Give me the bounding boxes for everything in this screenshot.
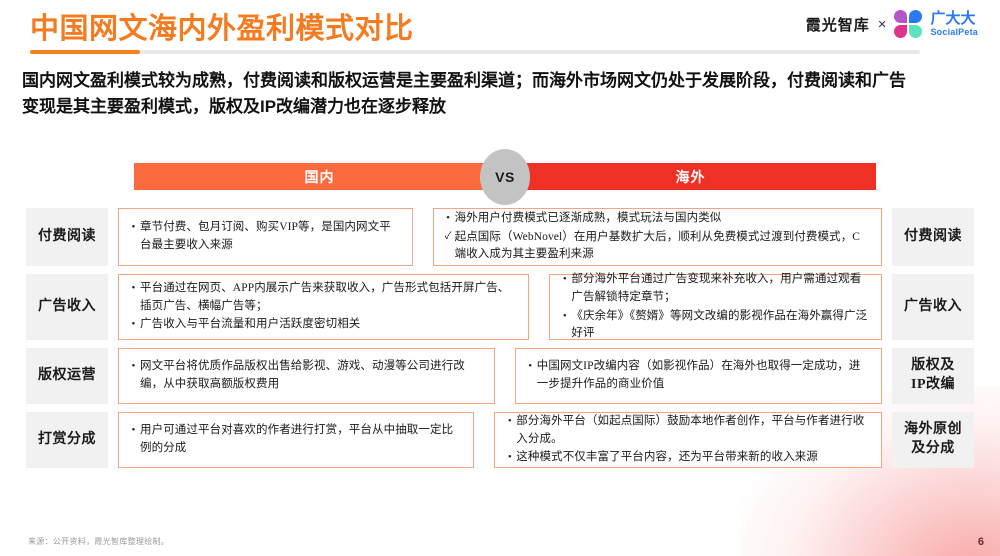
row-label-left: 打赏分成 [26, 412, 108, 468]
logo-quadrant-top-left [894, 10, 907, 23]
vs-badge: VS [480, 149, 530, 205]
title-underline [30, 50, 920, 54]
list-item: • 《庆余年》《赘婿》等网文改编的影视作品在海外赢得广泛好评 [558, 308, 871, 344]
brand-name: 霞光智库 [806, 14, 870, 35]
bullet-dot-icon: • [558, 308, 571, 325]
overseas-content-box: • 部分海外平台通过广告变现来补充收入，用户需通过观看广告解锁特定章节； • 《… [549, 274, 882, 340]
row-label-right: 广告收入 [892, 274, 974, 340]
overseas-header-label: 海外 [676, 167, 706, 187]
slide-root: 中国网文海内外盈利模式对比 霞光智库 × 广大大 SocialPeta 国内网文… [0, 0, 1000, 556]
bullet-dot-icon: • [127, 316, 140, 333]
overseas-content-box: • 海外用户付费模式已逐渐成熟，模式玩法与国内类似 ✓ 起点国际（WebNove… [433, 208, 882, 266]
list-item-text: 部分海外平台通过广告变现来补充收入，用户需通过观看广告解锁特定章节； [571, 271, 871, 307]
comparison-row: 付费阅读 • 章节付费、包月订阅、购买VIP等，是国内网文平台最主要收入来源 •… [0, 208, 1000, 266]
list-item: • 网文平台将优质作品版权出售给影视、游戏、动漫等公司进行改编，从中获取高额版权… [127, 358, 484, 394]
bullet-dot-icon: • [503, 449, 516, 466]
list-item: • 平台通过在网页、APP内展示广告来获取收入，广告形式包括开屏广告、插页广告、… [127, 280, 518, 316]
logo-quadrant-bottom-left [894, 25, 907, 38]
list-item-text: 部分海外平台（如起点国际）鼓励本地作者创作，平台与作者进行收入分成。 [516, 413, 871, 449]
bullet-dot-icon: • [127, 422, 140, 439]
list-item-text: 起点国际（WebNovel）在用户基数扩大后，顺利从免费模式过渡到付费模式，C端… [455, 229, 871, 265]
list-item: • 海外用户付费模式已逐渐成熟，模式玩法与国内类似 [442, 210, 871, 228]
list-item: • 这种模式不仅丰富了平台内容，还为平台带来新的收入来源 [503, 449, 871, 467]
logo-quadrant-bottom-right [909, 25, 922, 38]
row-label-left: 付费阅读 [26, 208, 108, 266]
row-label-right: 版权及 IP改编 [892, 348, 974, 404]
row-label-right: 海外原创 及分成 [892, 412, 974, 468]
logo-quadrant-top-right [909, 10, 922, 23]
bullet-dot-icon: • [558, 271, 571, 288]
page-title: 中国网文海内外盈利模式对比 [30, 14, 414, 46]
list-item-text: 这种模式不仅丰富了平台内容，还为平台带来新的收入来源 [516, 449, 871, 467]
list-item: • 章节付费、包月订阅、购买VIP等，是国内网文平台最主要收入来源 [127, 219, 402, 255]
partner-name-en: SocialPeta [930, 28, 978, 37]
source-note: 来源：公开资料，霞光智库整理绘制。 [28, 536, 169, 547]
list-item-text: 中国网文IP改编内容（如影视作品）在海外也取得一定成功，进一步提升作品的商业价值 [537, 358, 871, 394]
row-label-left: 广告收入 [26, 274, 108, 340]
list-item-text: 章节付费、包月订阅、购买VIP等，是国内网文平台最主要收入来源 [140, 219, 402, 255]
list-item: • 部分海外平台通过广告变现来补充收入，用户需通过观看广告解锁特定章节； [558, 271, 871, 307]
comparison-row: 打赏分成 • 用户可通过平台对喜欢的作者进行打赏，平台从中抽取一定比例的分成 •… [0, 412, 1000, 468]
list-item-text: 《庆余年》《赘婿》等网文改编的影视作品在海外赢得广泛好评 [571, 308, 871, 344]
bullet-dot-icon: • [524, 358, 537, 375]
domestic-header: 国内 [134, 163, 505, 190]
brand-lockup: 霞光智库 × 广大大 SocialPeta [806, 10, 978, 38]
list-item: • 广告收入与平台流量和用户活跃度密切相关 [127, 316, 518, 334]
comparison-header-bar: 国内 海外 VS [134, 163, 876, 190]
domestic-content-box: • 章节付费、包月订阅、购买VIP等，是国内网文平台最主要收入来源 [118, 208, 413, 266]
list-item-text: 广告收入与平台流量和用户活跃度密切相关 [140, 316, 518, 334]
domestic-content-box: • 用户可通过平台对喜欢的作者进行打赏，平台从中抽取一定比例的分成 [118, 412, 474, 468]
title-underline-accent [30, 50, 140, 54]
list-item-text: 网文平台将优质作品版权出售给影视、游戏、动漫等公司进行改编，从中获取高额版权费用 [140, 358, 484, 394]
partner-name-cn: 广大大 [930, 11, 978, 26]
list-item: • 部分海外平台（如起点国际）鼓励本地作者创作，平台与作者进行收入分成。 [503, 413, 871, 449]
check-icon: ✓ [442, 229, 455, 245]
page-number: 6 [978, 536, 984, 548]
list-item: ✓ 起点国际（WebNovel）在用户基数扩大后，顺利从免费模式过渡到付费模式，… [442, 229, 871, 265]
list-item: • 中国网文IP改编内容（如影视作品）在海外也取得一定成功，进一步提升作品的商业… [524, 358, 871, 394]
overseas-content-box: • 部分海外平台（如起点国际）鼓励本地作者创作，平台与作者进行收入分成。 • 这… [494, 412, 882, 468]
list-item: • 用户可通过平台对喜欢的作者进行打赏，平台从中抽取一定比例的分成 [127, 422, 463, 458]
socialpeta-flower-logo [894, 10, 922, 38]
bullet-dot-icon: • [127, 280, 140, 297]
row-label-right: 付费阅读 [892, 208, 974, 266]
bullet-dot-icon: • [442, 210, 455, 227]
domestic-content-box: • 平台通过在网页、APP内展示广告来获取收入，广告形式包括开屏广告、插页广告、… [118, 274, 529, 340]
bullet-dot-icon: • [127, 219, 140, 236]
row-label-left: 版权运营 [26, 348, 108, 404]
bullet-dot-icon: • [127, 358, 140, 375]
bullet-dot-icon: • [503, 413, 516, 430]
overseas-header: 海外 [505, 163, 876, 190]
comparison-matrix: 付费阅读 • 章节付费、包月订阅、购买VIP等，是国内网文平台最主要收入来源 •… [0, 208, 1000, 476]
list-item-text: 用户可通过平台对喜欢的作者进行打赏，平台从中抽取一定比例的分成 [140, 422, 463, 458]
comparison-row: 广告收入 • 平台通过在网页、APP内展示广告来获取收入，广告形式包括开屏广告、… [0, 274, 1000, 340]
domestic-header-label: 国内 [305, 167, 335, 187]
list-item-text: 平台通过在网页、APP内展示广告来获取收入，广告形式包括开屏广告、插页广告、横幅… [140, 280, 518, 316]
subtitle-summary: 国内网文盈利模式较为成熟，付费阅读和版权运营是主要盈利渠道；而海外市场网文仍处于… [22, 68, 922, 121]
brand-x-separator: × [878, 16, 887, 33]
overseas-content-box: • 中国网文IP改编内容（如影视作品）在海外也取得一定成功，进一步提升作品的商业… [515, 348, 882, 404]
domestic-content-box: • 网文平台将优质作品版权出售给影视、游戏、动漫等公司进行改编，从中获取高额版权… [118, 348, 495, 404]
partner-brand-text: 广大大 SocialPeta [930, 11, 978, 37]
comparison-row: 版权运营 • 网文平台将优质作品版权出售给影视、游戏、动漫等公司进行改编，从中获… [0, 348, 1000, 404]
list-item-text: 海外用户付费模式已逐渐成熟，模式玩法与国内类似 [455, 210, 871, 228]
